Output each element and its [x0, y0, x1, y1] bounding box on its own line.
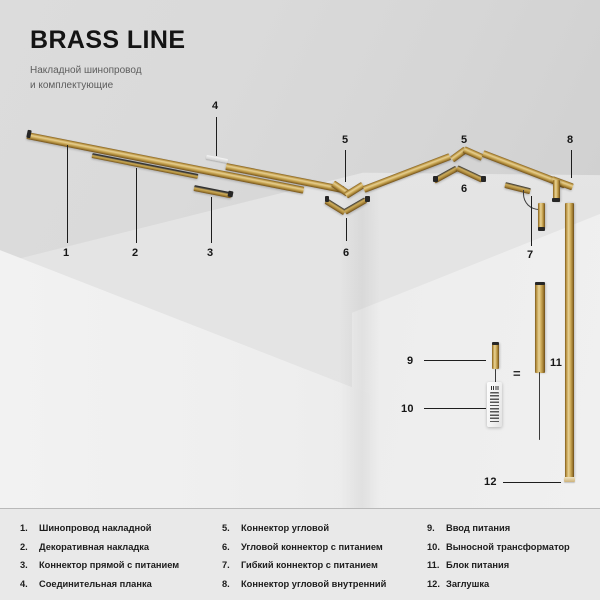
- legend-number-7: 7.: [222, 560, 241, 570]
- callout-8: 8: [567, 134, 573, 146]
- power-supply-wire: [539, 372, 540, 440]
- page-subtitle: Накладной шинопровод и комплектующие: [30, 63, 185, 93]
- end-cap-plug: [564, 477, 575, 482]
- legend-number-6: 6.: [222, 542, 241, 552]
- connector6b-endcap-right: [481, 176, 486, 182]
- legend-number-8: 8.: [222, 579, 241, 589]
- product-diagram-page: 1 2 3 4 5 5 6 6 7 8 9 10 11: [0, 0, 600, 600]
- legend-number-3: 3.: [20, 560, 39, 570]
- power-feed-body: [492, 343, 499, 369]
- header-block: BRASS LINE Накладной шинопровод и компле…: [30, 28, 185, 93]
- legend-item-12: 12. Заглушка: [427, 579, 570, 589]
- leader-line-3: [211, 197, 212, 243]
- leader-line-7: [531, 196, 532, 246]
- leader-line-5a: [345, 150, 346, 182]
- power-feed-endcap: [492, 342, 499, 345]
- legend-panel: 1. Шинопровод накладной 2. Декоративная …: [0, 508, 600, 600]
- legend-text-7: Гибкий коннектор с питанием: [241, 560, 378, 570]
- leader-line-8: [571, 150, 572, 178]
- power-supply-body: [535, 283, 545, 373]
- legend-item-5: 5. Коннектор угловой: [222, 523, 386, 533]
- leader-line-2: [136, 168, 137, 243]
- legend-number-1: 1.: [20, 523, 39, 533]
- legend-text-4: Соединительная планка: [39, 579, 152, 589]
- transformer-vent-stripes: [490, 392, 499, 423]
- callout-4: 4: [212, 100, 218, 112]
- legend-text-3: Коннектор прямой с питанием: [39, 560, 179, 570]
- callout-7: 7: [527, 249, 533, 261]
- connector6a-endcap-left: [325, 196, 329, 202]
- legend-column-3: 9. Ввод питания 10. Выносной трансформат…: [427, 523, 570, 598]
- transformer-label-stripes: [491, 386, 500, 390]
- legend-text-8: Коннектор угловой внутренний: [241, 579, 386, 589]
- callout-5a: 5: [342, 134, 348, 146]
- leader-line-10: [424, 408, 486, 409]
- leader-line-1: [67, 145, 68, 243]
- legend-number-10: 10.: [427, 542, 446, 552]
- legend-text-10: Выносной трансформатор: [446, 542, 570, 552]
- callout-3: 3: [207, 247, 213, 259]
- legend-item-3: 3. Коннектор прямой с питанием: [20, 560, 179, 570]
- callout-6b: 6: [461, 183, 467, 195]
- callout-9: 9: [407, 355, 413, 367]
- leader-line-12: [503, 482, 561, 483]
- legend-column-1: 1. Шинопровод накладной 2. Декоративная …: [20, 523, 179, 598]
- legend-number-5: 5.: [222, 523, 241, 533]
- callout-10: 10: [401, 403, 414, 415]
- legend-item-4: 4. Соединительная планка: [20, 579, 179, 589]
- legend-item-1: 1. Шинопровод накладной: [20, 523, 179, 533]
- callout-5b: 5: [461, 134, 467, 146]
- equals-sign: =: [513, 366, 521, 381]
- legend-item-2: 2. Декоративная накладка: [20, 542, 179, 552]
- legend-text-5: Коннектор угловой: [241, 523, 329, 533]
- power-supply-endcap-top: [535, 282, 545, 285]
- legend-text-6: Угловой коннектор с питанием: [241, 542, 383, 552]
- legend-item-8: 8. Коннектор угловой внутренний: [222, 579, 386, 589]
- legend-number-2: 2.: [20, 542, 39, 552]
- callout-6a: 6: [343, 247, 349, 259]
- legend-text-2: Декоративная накладка: [39, 542, 149, 552]
- legend-column-2: 5. Коннектор угловой 6. Угловой коннекто…: [222, 523, 386, 598]
- flex-connector-endcap: [538, 227, 545, 231]
- connector8-endcap: [552, 198, 560, 202]
- legend-number-11: 11.: [427, 560, 446, 570]
- legend-item-10: 10. Выносной трансформатор: [427, 542, 570, 552]
- legend-number-9: 9.: [427, 523, 446, 533]
- page-title: BRASS LINE: [30, 28, 185, 53]
- subtitle-line-1: Накладной шинопровод: [30, 63, 185, 78]
- callout-2: 2: [132, 247, 138, 259]
- flex-connector-body: [538, 203, 545, 229]
- leader-line-9: [424, 360, 486, 361]
- connector6a-endcap-right: [365, 196, 370, 202]
- external-transformer: [487, 382, 502, 427]
- legend-text-11: Блок питания: [446, 560, 509, 570]
- wall-track-vertical: [565, 203, 574, 478]
- legend-item-7: 7. Гибкий коннектор с питанием: [222, 560, 386, 570]
- legend-item-11: 11. Блок питания: [427, 560, 570, 570]
- legend-item-6: 6. Угловой коннектор с питанием: [222, 542, 386, 552]
- legend-text-9: Ввод питания: [446, 523, 510, 533]
- callout-12: 12: [484, 476, 497, 488]
- legend-item-9: 9. Ввод питания: [427, 523, 570, 533]
- leader-line-4: [216, 117, 217, 156]
- legend-text-1: Шинопровод накладной: [39, 523, 152, 533]
- callout-1: 1: [63, 247, 69, 259]
- callout-11: 11: [550, 357, 562, 369]
- subtitle-line-2: и комплектующие: [30, 78, 185, 93]
- leader-line-6a: [346, 218, 347, 241]
- legend-number-4: 4.: [20, 579, 39, 589]
- right-wall-surface: [352, 150, 600, 508]
- connector6b-endcap-left: [433, 176, 438, 182]
- legend-text-12: Заглушка: [446, 579, 489, 589]
- legend-number-12: 12.: [427, 579, 446, 589]
